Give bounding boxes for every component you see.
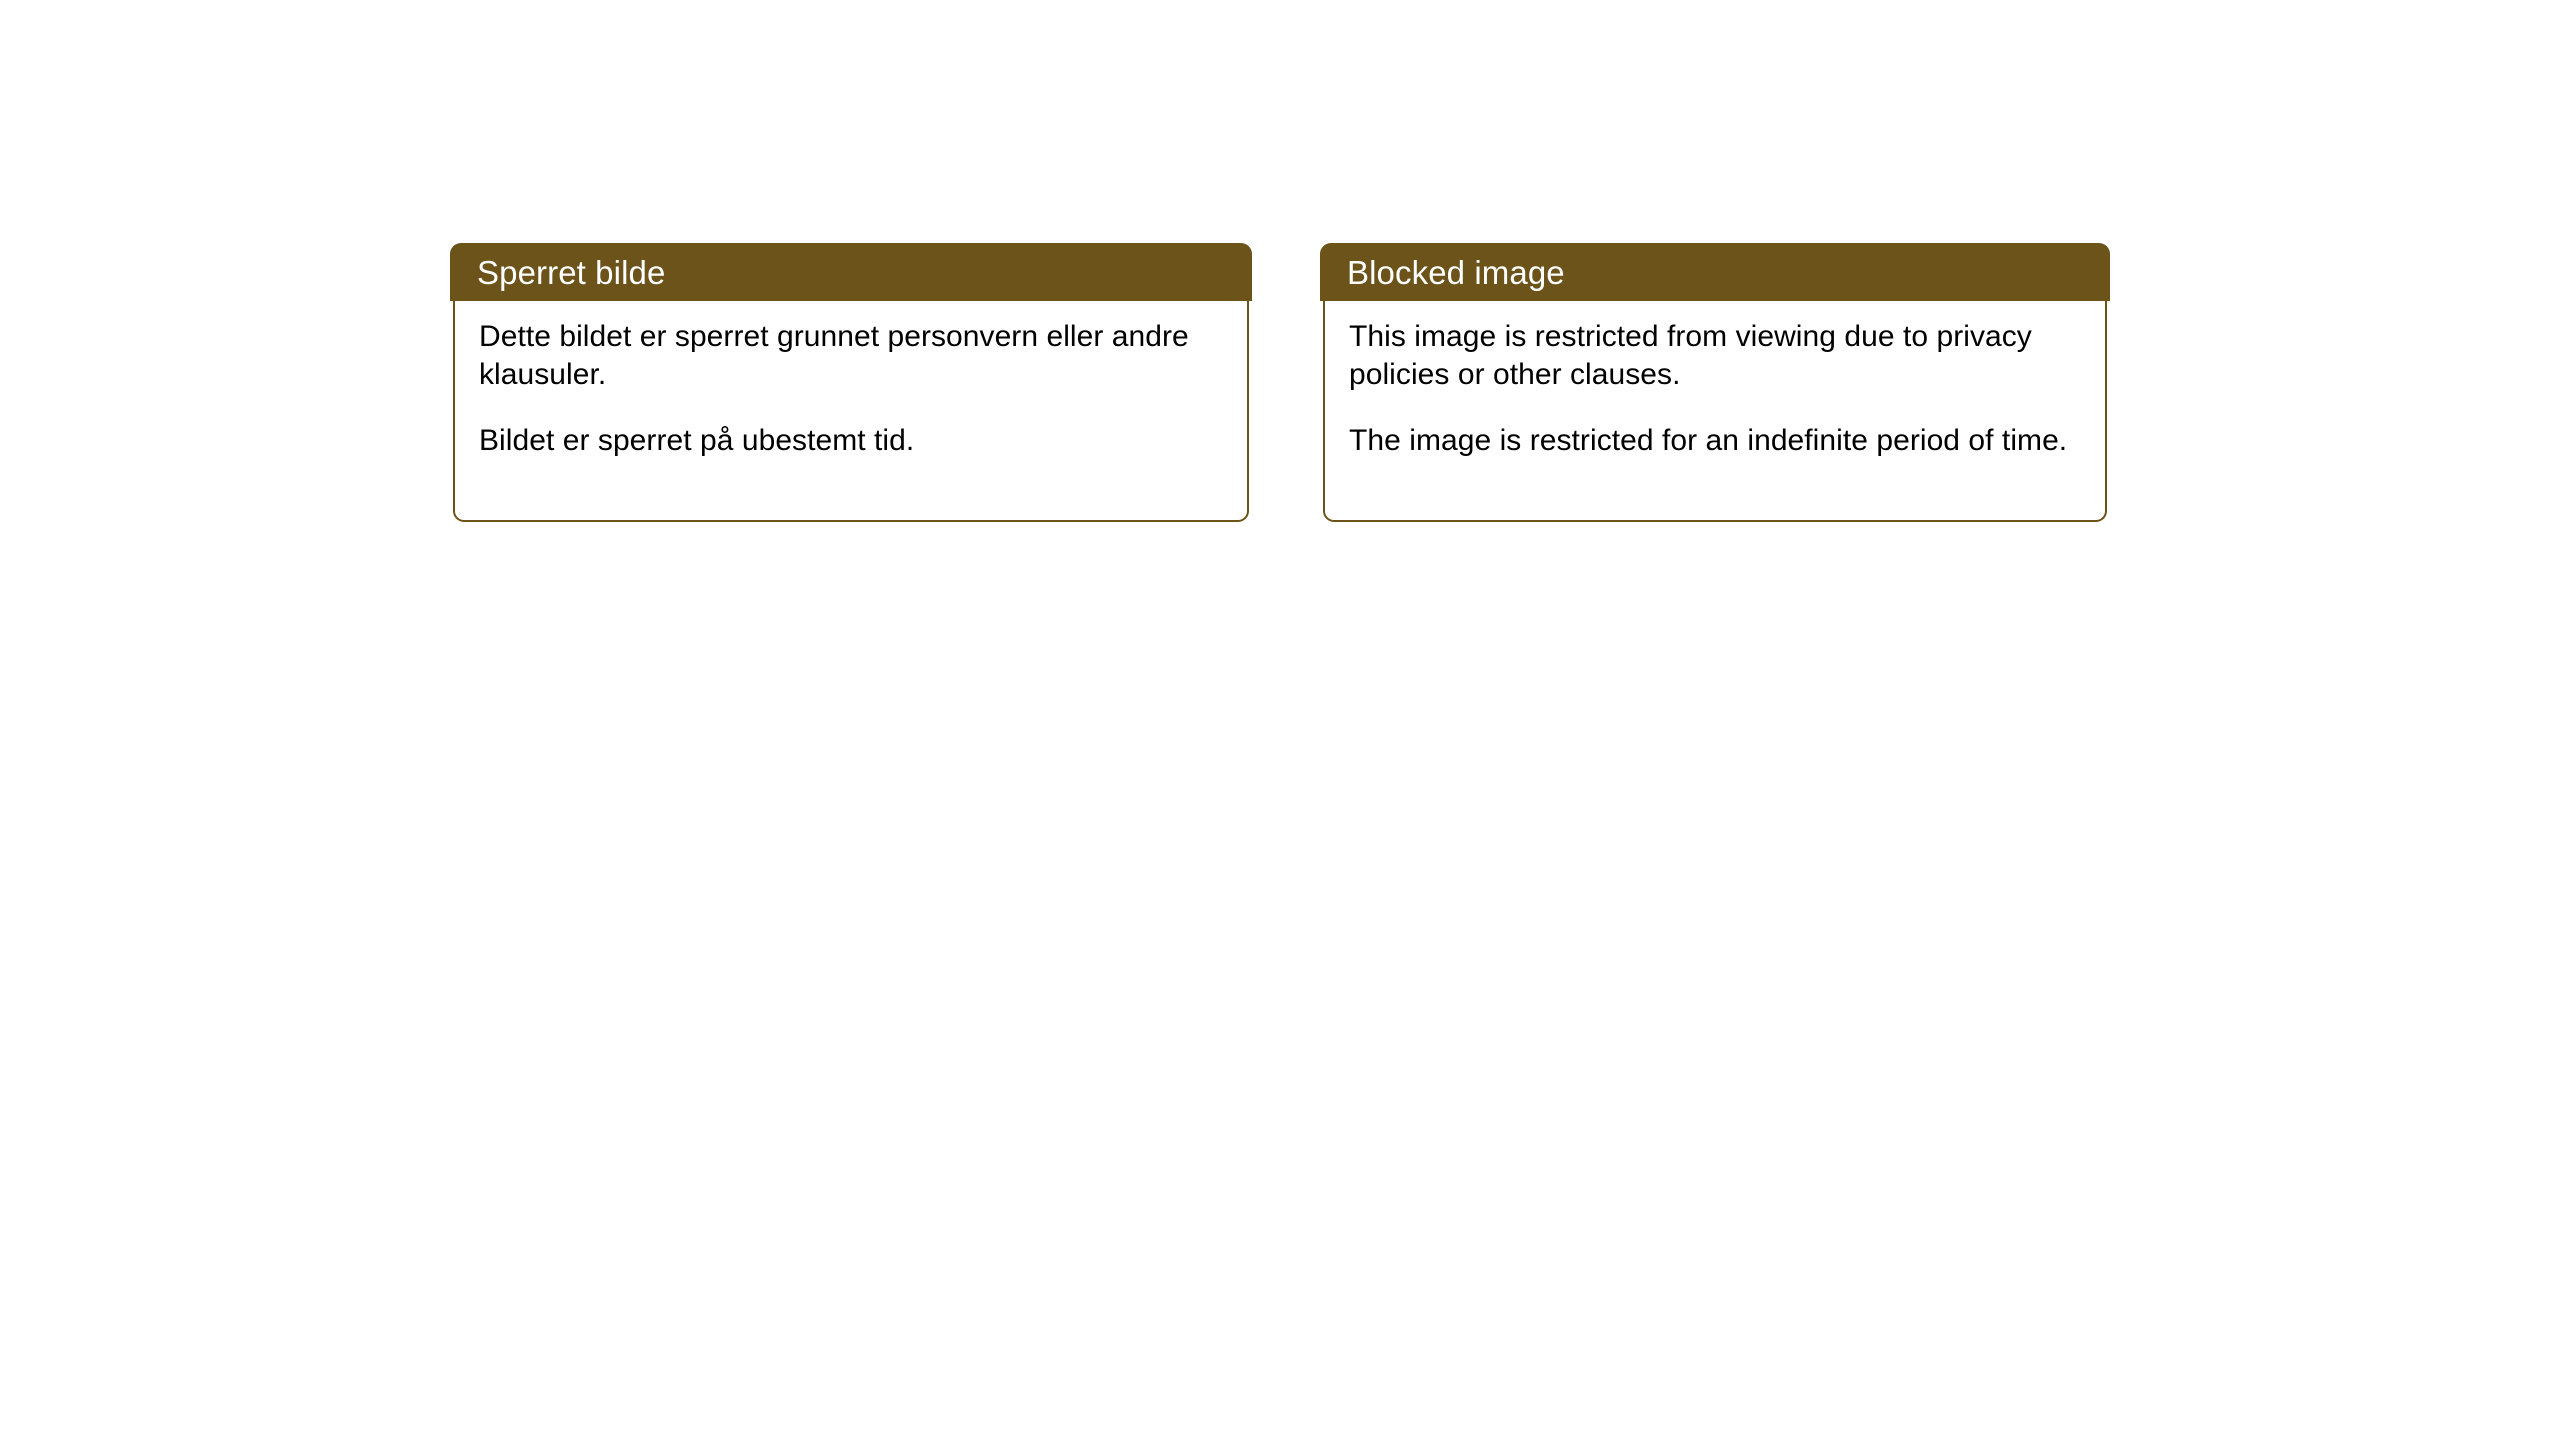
- card-title-english: Blocked image: [1347, 256, 1565, 289]
- card-body-english: This image is restricted from viewing du…: [1323, 300, 2107, 522]
- card-paragraph-reason-english: This image is restricted from viewing du…: [1349, 318, 2081, 394]
- card-paragraph-duration-norwegian: Bildet er sperret på ubestemt tid.: [479, 422, 1223, 460]
- card-title-norwegian: Sperret bilde: [477, 256, 665, 289]
- blocked-image-card-norwegian: Sperret bilde Dette bildet er sperret gr…: [450, 243, 1252, 522]
- card-paragraph-reason-norwegian: Dette bildet er sperret grunnet personve…: [479, 318, 1223, 394]
- page-root: { "theme": { "background": "#ffffff", "a…: [0, 0, 2560, 1440]
- card-paragraph-duration-english: The image is restricted for an indefinit…: [1349, 422, 2081, 460]
- blocked-image-card-english: Blocked image This image is restricted f…: [1320, 243, 2110, 522]
- card-header-english: Blocked image: [1320, 243, 2110, 301]
- card-body-norwegian: Dette bildet er sperret grunnet personve…: [453, 300, 1249, 522]
- card-header-norwegian: Sperret bilde: [450, 243, 1252, 301]
